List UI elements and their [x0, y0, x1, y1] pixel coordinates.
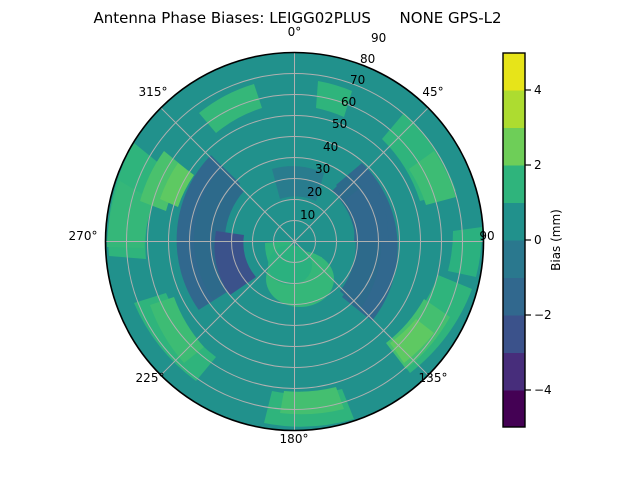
angular-tick-315: 315°	[124, 85, 182, 99]
angular-tick-270: 270°	[54, 229, 112, 243]
colorbar-tick-0: 0	[534, 233, 542, 247]
radial-tick-90: 90	[371, 31, 386, 45]
angular-tick-90: 90	[470, 229, 504, 243]
polar-axes[interactable]: 10 20 30 40 50 60 70 80 90 0° 45° 90 135…	[104, 51, 485, 432]
angular-tick-135: 135°	[404, 371, 462, 385]
angular-tick-45: 45°	[409, 85, 457, 99]
radial-tick-70: 70	[350, 73, 365, 87]
colorbar-ticks	[525, 90, 531, 390]
colorbar[interactable]: 4 2 0 −2 −4	[502, 52, 542, 428]
radial-tick-80: 80	[360, 52, 375, 66]
colorbar-axis-label-wrap: Bias (mm)	[545, 52, 567, 428]
colorbar-gradient	[503, 53, 525, 427]
colorbar-tick-4: 4	[534, 83, 542, 97]
radial-tick-50: 50	[332, 117, 347, 131]
angular-tick-0: 0°	[266, 25, 323, 39]
colorbar-axis-label: Bias (mm)	[549, 209, 563, 271]
angular-tick-180: 180°	[262, 432, 326, 446]
radial-tick-60: 60	[341, 95, 356, 109]
figure-canvas: Antenna Phase Biases: LEIGG02PLUS NONE G…	[0, 0, 640, 480]
radial-tick-40: 40	[323, 140, 338, 154]
radial-tick-30: 30	[315, 162, 330, 176]
radial-tick-10: 10	[300, 208, 315, 222]
angular-tick-225: 225°	[121, 371, 179, 385]
radial-tick-20: 20	[307, 185, 322, 199]
colorbar-tick-2: 2	[534, 158, 542, 172]
